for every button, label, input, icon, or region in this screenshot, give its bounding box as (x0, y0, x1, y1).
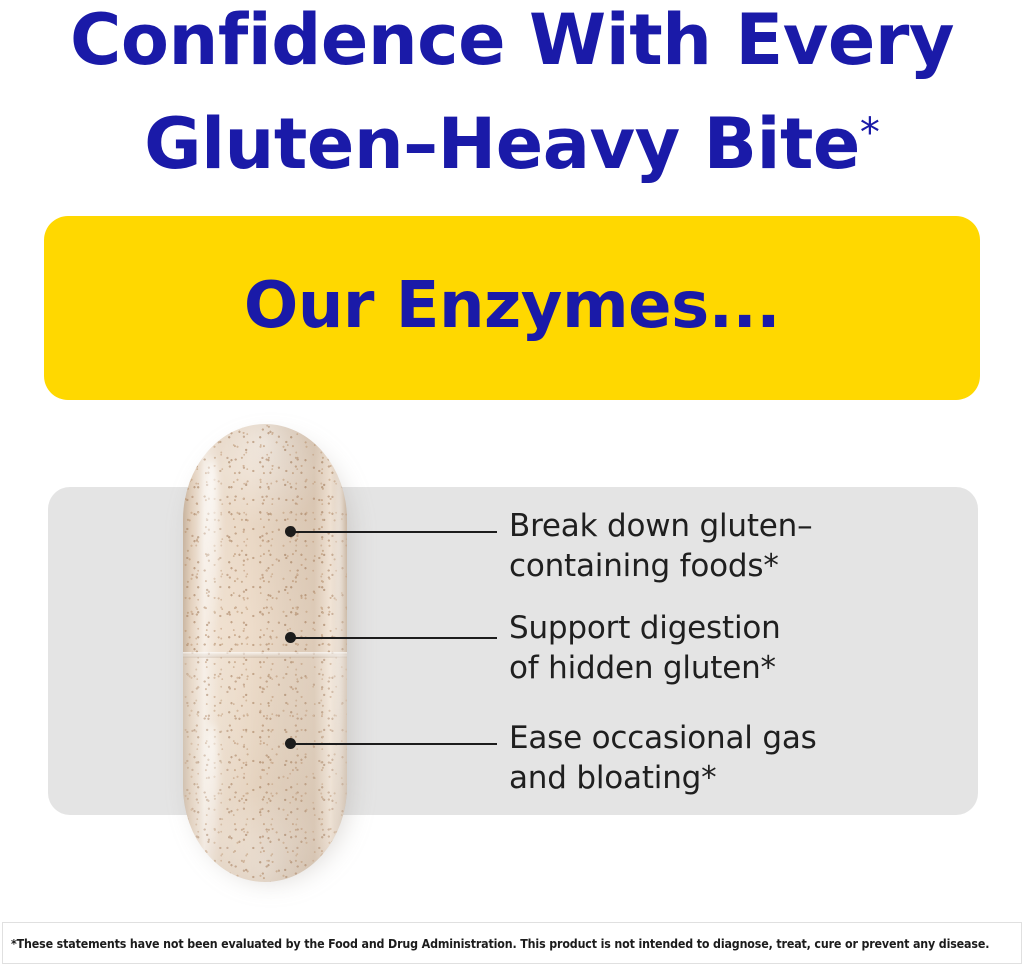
page-title: Confidence With Every Gluten–Heavy Bite* (0, 0, 1024, 191)
banner-label: Our Enzymes... (244, 274, 780, 338)
headline-line-2: Gluten–Heavy Bite* (0, 87, 1024, 191)
capsule-body-overlay (183, 655, 347, 882)
capsule-joint (183, 652, 347, 658)
headline-line-2-text: Gluten–Heavy Bite (144, 103, 860, 185)
headline-line-1: Confidence With Every (70, 0, 954, 81)
enzymes-banner: Our Enzymes... (44, 216, 980, 400)
disclaimer-box: *These statements have not been evaluate… (2, 922, 1022, 964)
headline-asterisk: * (860, 110, 880, 156)
benefit-item-3: Ease occasional gas and bloating* (509, 718, 817, 798)
capsule-highlight-lower (205, 724, 219, 854)
capsule-highlight-upper (203, 458, 220, 634)
product-infographic: Confidence With Every Gluten–Heavy Bite*… (0, 0, 1024, 967)
capsule-shape (183, 424, 347, 882)
benefit-item-2: Support digestion of hidden gluten* (509, 608, 781, 688)
benefit-item-1: Break down gluten– containing foods* (509, 506, 812, 586)
disclaimer-text: *These statements have not been evaluate… (11, 936, 989, 951)
capsule-image (183, 424, 351, 886)
